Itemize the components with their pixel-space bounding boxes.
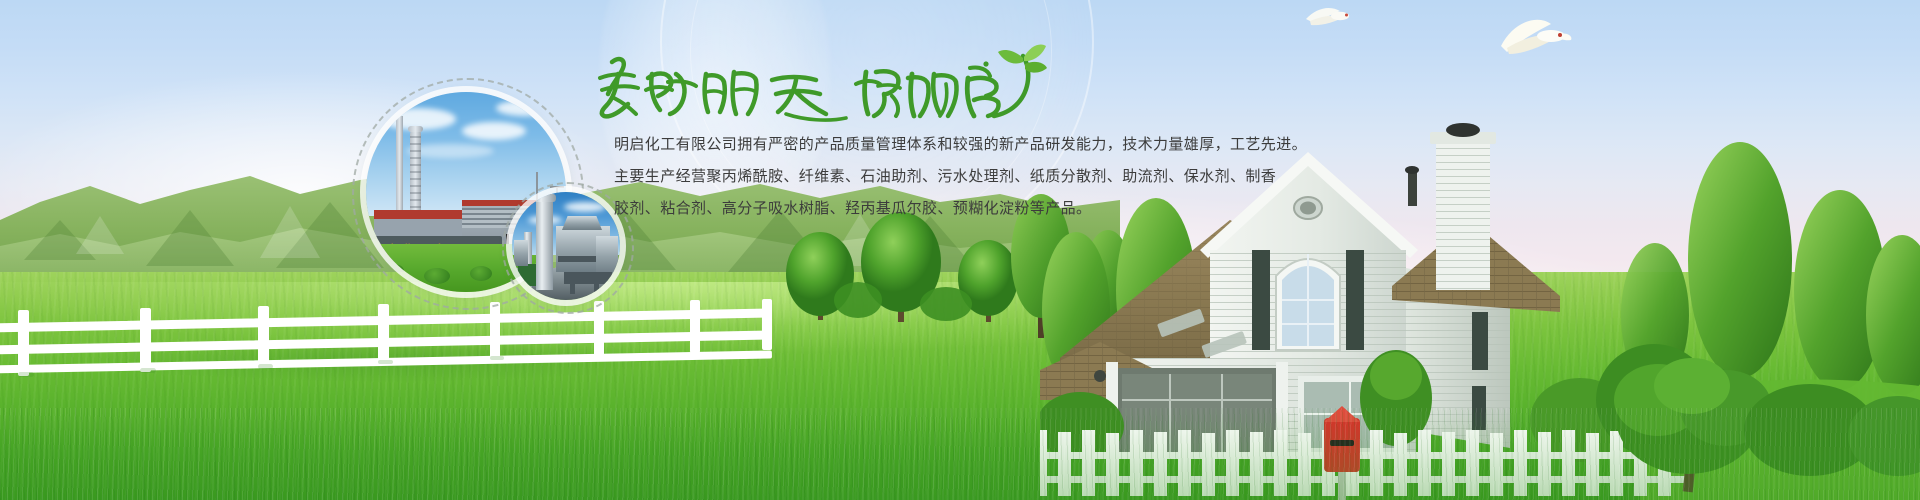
- dove-icon: [1493, 12, 1579, 64]
- company-hero-banner: 明启化工有限公司: [0, 0, 1920, 500]
- company-description: 明启化工有限公司拥有严密的产品质量管理体系和较强的新产品研发能力，技术力量雄厚，…: [614, 128, 1624, 224]
- dove-icon: [1300, 2, 1358, 36]
- description-line-2: 主要生产经营聚丙烯酰胺、纤维素、石油助剂、污水处理剂、纸质分散剂、助流剂、保水剂…: [614, 160, 1624, 192]
- white-rail-fence: [0, 288, 770, 378]
- slogan-calligraphy: [590, 44, 1010, 126]
- description-line-3: 胶剂、粘合剂、高分子吸水树脂、羟丙基瓜尔胶、预糊化淀粉等产品。: [614, 192, 1624, 224]
- production-equipment-photo: [512, 192, 620, 300]
- grass-foreground: [0, 408, 1920, 500]
- description-line-1: 明启化工有限公司拥有严密的产品质量管理体系和较强的新产品研发能力，技术力量雄厚，…: [614, 128, 1624, 160]
